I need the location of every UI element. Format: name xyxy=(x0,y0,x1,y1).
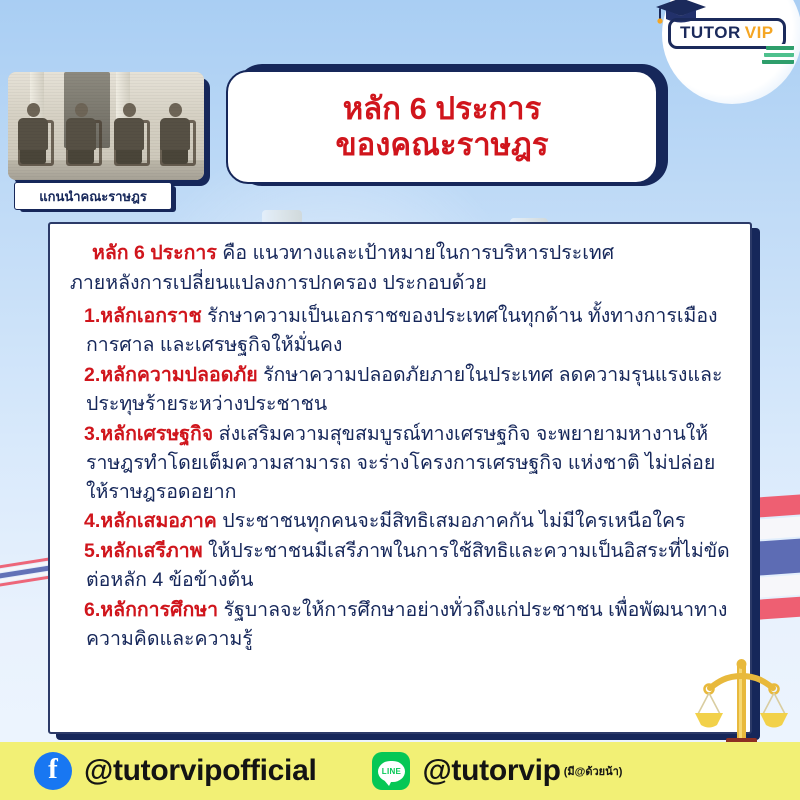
item-number: 3. xyxy=(84,423,100,445)
item-text: ประชาชนทุกคนจะมีสิทธิเสมอภาคกัน ไม่มีใคร… xyxy=(217,510,686,532)
scales-of-justice-icon xyxy=(690,652,794,756)
list-item: 2.หลักความปลอดภัย รักษาความปลอดภัยภายในป… xyxy=(70,361,730,419)
social-footer: f @tutorvipofficial LINE @tutorvip (มี@ด… xyxy=(0,742,800,800)
item-number: 1. xyxy=(84,305,100,327)
intro-paragraph: หลัก 6 ประการ คือ แนวทางและเป้าหมายในการ… xyxy=(70,238,730,298)
page-title: หลัก 6 ประการ ของคณะราษฎร xyxy=(226,70,658,184)
khana-ratsadon-leaders-photo xyxy=(8,72,204,180)
line-note: (มี@ด้วยน้า) xyxy=(564,762,623,780)
list-item: 4.หลักเสมอภาค ประชาชนทุกคนจะมีสิทธิเสมอภ… xyxy=(70,507,730,536)
list-item: 3.หลักเศรษฐกิจ ส่งเสริมความสุขสมบูรณ์ทาง… xyxy=(70,420,730,507)
page-title-line2: ของคณะราษฎร xyxy=(335,127,548,163)
item-key: หลักเสมอภาค xyxy=(100,510,217,532)
stacked-books-icon xyxy=(758,38,798,68)
facebook-icon[interactable]: f xyxy=(34,752,72,790)
item-number: 2. xyxy=(84,364,100,386)
item-key: หลักความปลอดภัย xyxy=(100,364,257,386)
facebook-link[interactable]: f @tutorvipofficial xyxy=(34,752,316,790)
line-icon[interactable]: LINE xyxy=(372,752,410,790)
line-handle[interactable]: @tutorvip xyxy=(422,754,560,788)
infographic-canvas: TUTORVIP หลัก 6 ประการ ของคณะราษฎร xyxy=(0,0,800,800)
line-bubble-label: LINE xyxy=(378,761,405,782)
item-key: หลักการศึกษา xyxy=(100,599,218,621)
list-item: 6.หลักการศึกษา รัฐบาลจะให้การศึกษาอย่างท… xyxy=(70,596,730,654)
item-number: 4. xyxy=(84,510,100,532)
list-item: 1.หลักเอกราช รักษาความเป็นเอกราชของประเท… xyxy=(70,302,730,360)
item-key: หลักเศรษฐกิจ xyxy=(100,423,213,445)
logo-primary-text: TUTOR xyxy=(680,23,741,42)
page-title-line1: หลัก 6 ประการ xyxy=(343,91,541,127)
principles-list: 1.หลักเอกราช รักษาความเป็นเอกราชของประเท… xyxy=(70,302,730,653)
list-item: 5.หลักเสรีภาพ ให้ประชาชนมีเสรีภาพในการใช… xyxy=(70,537,730,595)
item-key: หลักเสรีภาพ xyxy=(100,540,202,562)
intro-line2: ภายหลังการเปลี่ยนแปลงการปกครอง ประกอบด้ว… xyxy=(70,268,730,298)
line-link[interactable]: LINE @tutorvip (มี@ด้วยน้า) xyxy=(372,752,622,790)
item-number: 6. xyxy=(84,599,100,621)
facebook-handle[interactable]: @tutorvipofficial xyxy=(84,754,316,788)
content-card: หลัก 6 ประการ คือ แนวทางและเป้าหมายในการ… xyxy=(48,222,752,734)
intro-line1-rest: คือ แนวทางและเป้าหมายในการบริหารประเทศ xyxy=(217,242,614,264)
intro-highlight: หลัก 6 ประการ xyxy=(92,242,217,264)
item-key: หลักเอกราช xyxy=(100,305,201,327)
item-number: 5. xyxy=(84,540,100,562)
photo-caption: แกนนำคณะราษฎร xyxy=(14,182,172,210)
